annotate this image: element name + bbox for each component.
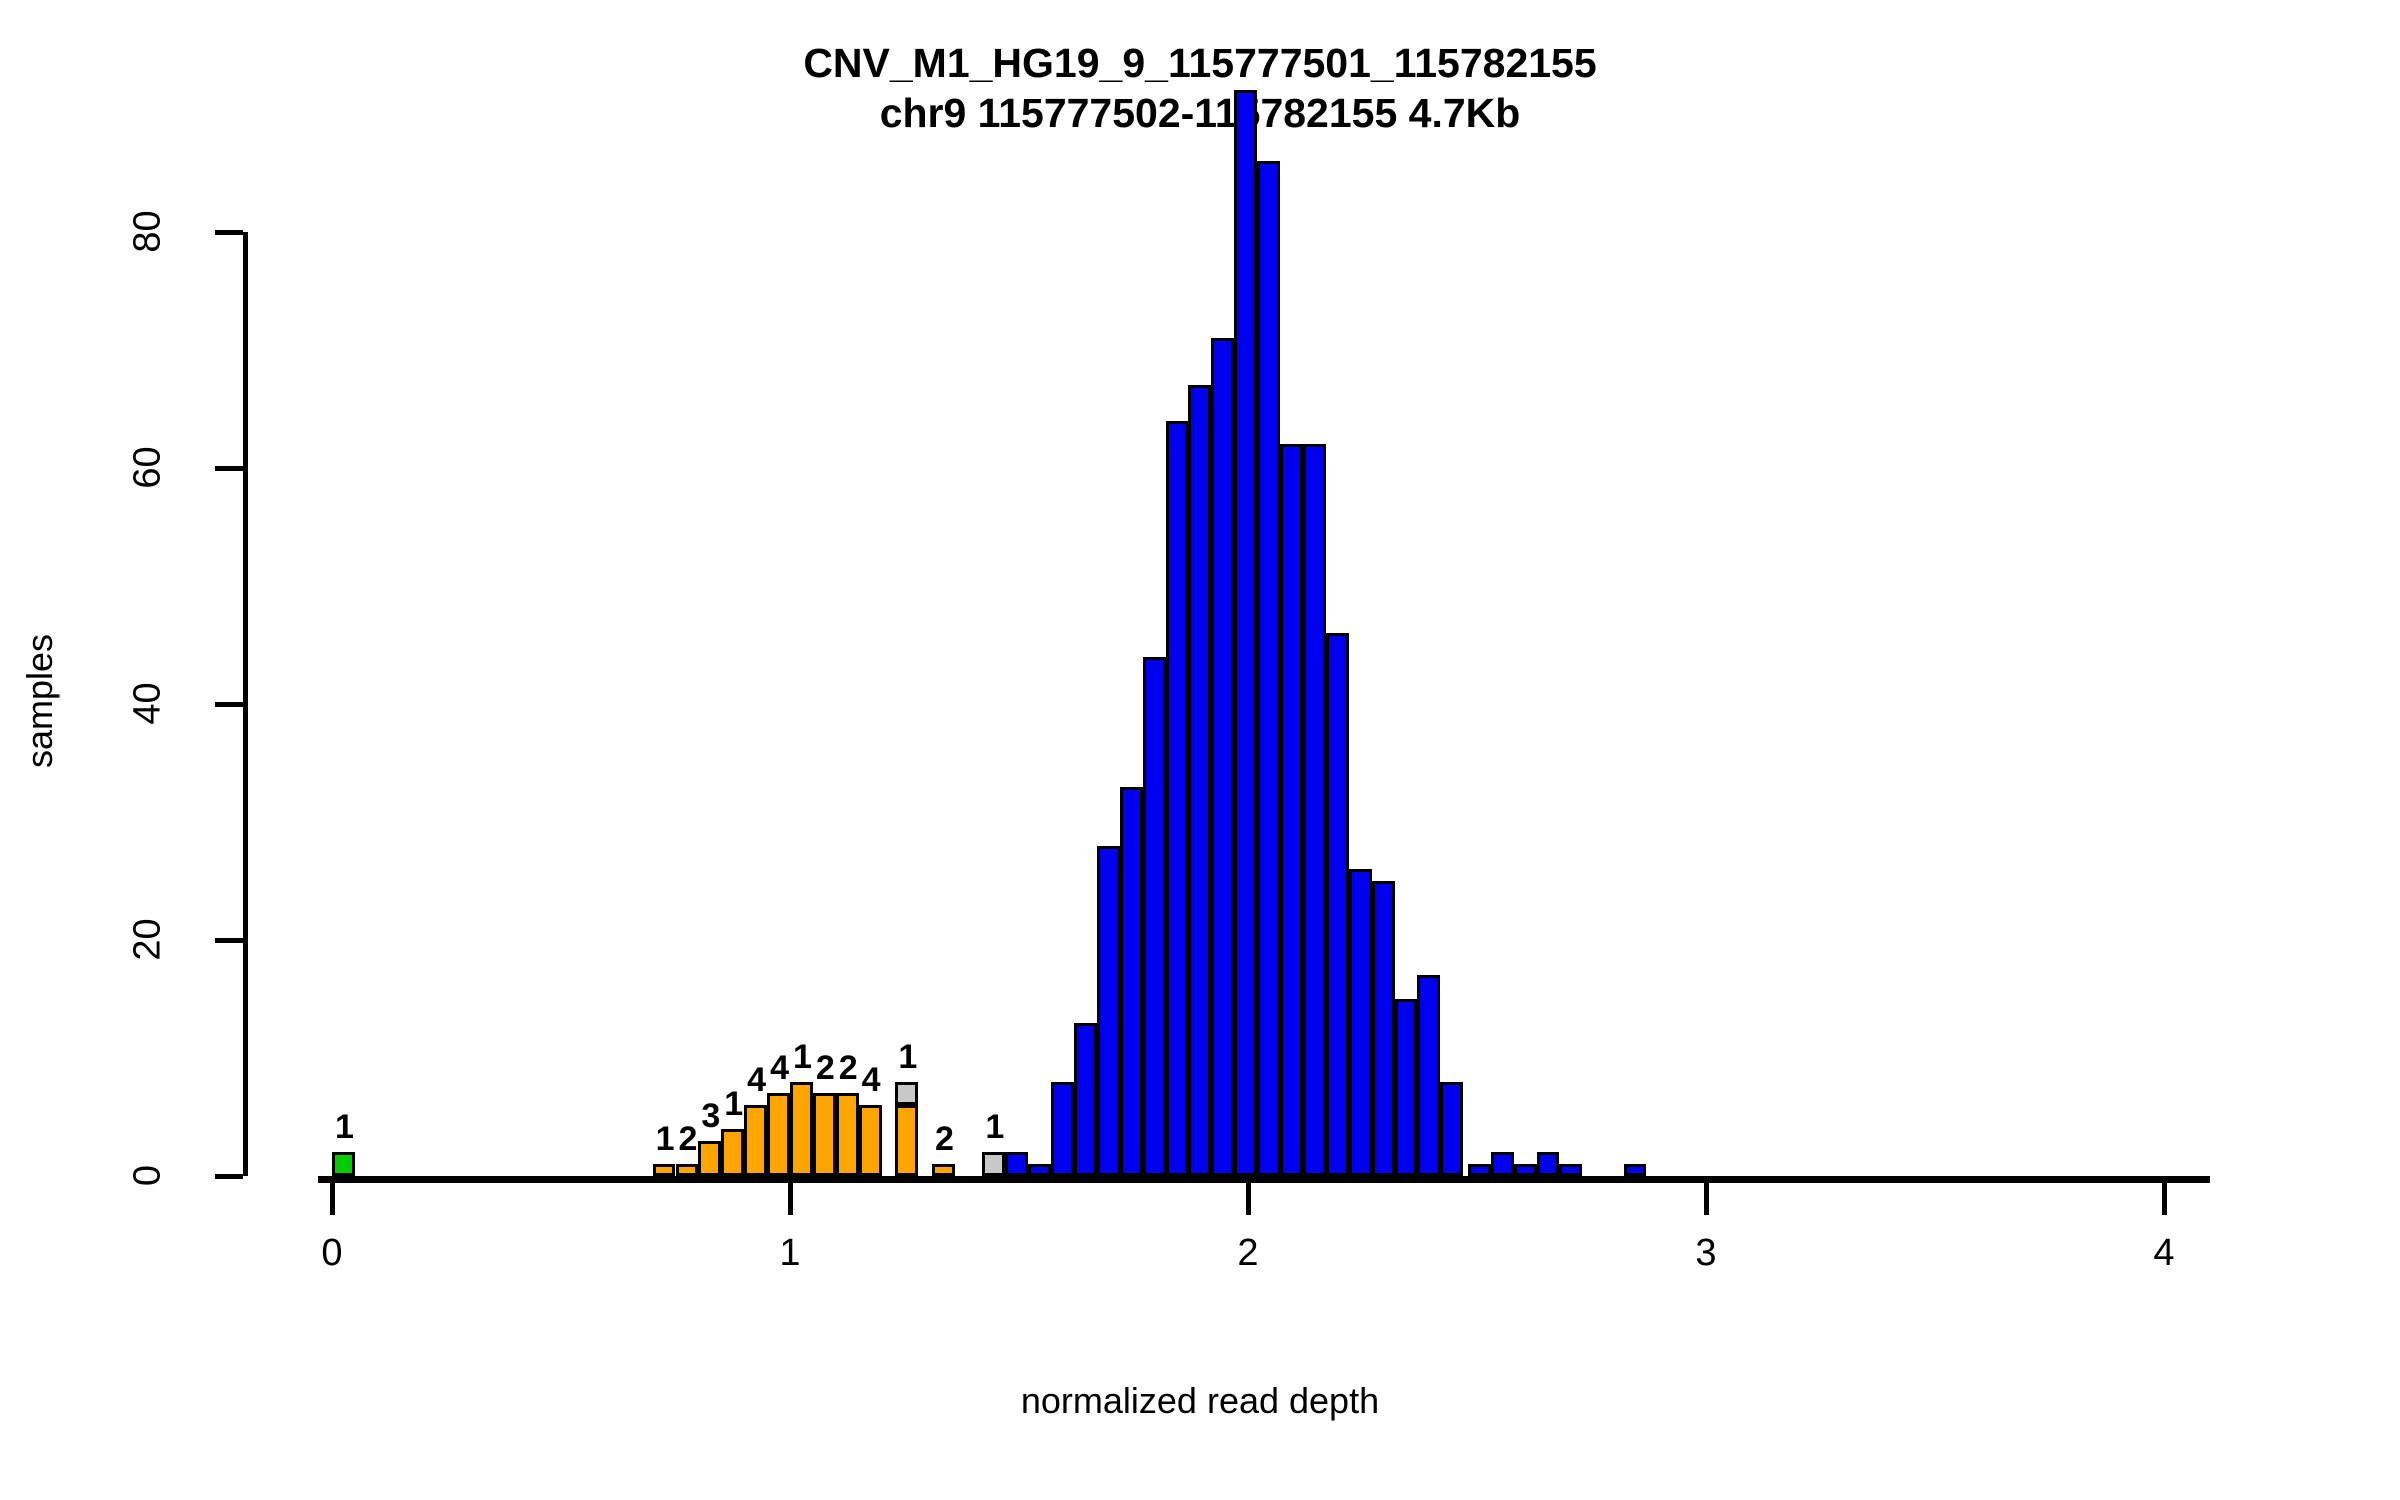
y-tick-label-20: 20 [127,885,170,995]
bar [1468,1164,1491,1176]
bar-count-label: 4 [862,1061,881,1100]
bar-count-label: 2 [816,1049,835,1088]
y-tick-60 [215,466,243,471]
bar-count-label: 2 [935,1120,954,1159]
plot-area: 02040608001234normalized read depthsampl… [0,0,2400,1500]
bar-cap [895,1082,918,1106]
y-tick-label-0: 0 [127,1121,170,1231]
bar-count-label: 1 [724,1085,743,1124]
bar-count-label: 2 [839,1049,858,1088]
bar-count-label: 4 [770,1049,789,1088]
bar [721,1129,744,1176]
x-tick-4 [2162,1183,2167,1215]
x-axis-line [318,1176,2210,1183]
x-tick-label-4: 4 [2104,1232,2224,1275]
bar [1005,1152,1028,1176]
bar-count-label: 2 [678,1120,697,1159]
bar [1074,1023,1097,1176]
bar-count-label: 3 [701,1097,720,1136]
bar [836,1093,859,1176]
bar [1234,90,1257,1176]
bar [744,1105,767,1176]
bar [653,1164,676,1176]
bar [932,1164,955,1176]
bar [676,1164,699,1176]
x-tick-label-3: 3 [1646,1232,1766,1275]
bar-count-label: 1 [793,1038,812,1077]
y-axis-title: samples [19,581,61,821]
bar [1051,1082,1074,1176]
bar [1280,444,1303,1176]
bar-count-label: 4 [747,1061,766,1100]
bar [1097,846,1120,1176]
y-axis-line [243,232,248,1176]
bar [698,1141,721,1176]
chart-canvas: CNV_M1_HG19_9_115777501_115782155 chr9 1… [0,0,2400,1500]
bar [1188,385,1211,1176]
bar-count-label: 1 [656,1120,675,1159]
x-tick-1 [788,1183,793,1215]
bar [332,1152,355,1176]
bar [982,1152,1005,1176]
bar [1395,999,1418,1176]
bar [1120,787,1143,1176]
bar [1440,1082,1463,1176]
y-tick-label-80: 80 [127,177,170,287]
bar [1417,975,1440,1176]
bar [1257,161,1280,1176]
bar [1143,657,1166,1176]
bar [1349,869,1372,1176]
bar [767,1093,790,1176]
bar-count-label: 1 [898,1038,917,1077]
y-tick-20 [215,938,243,943]
bar [1211,338,1234,1176]
y-tick-40 [215,702,243,707]
x-tick-2 [1246,1183,1251,1215]
bar [1537,1152,1560,1176]
x-tick-0 [330,1183,335,1215]
y-tick-0 [215,1174,243,1179]
bar-count-label: 1 [985,1108,1004,1147]
x-tick-3 [1704,1183,1709,1215]
bar [1028,1164,1051,1176]
bar [1624,1164,1647,1176]
y-tick-80 [215,230,243,235]
x-tick-label-2: 2 [1188,1232,1308,1275]
x-tick-label-0: 0 [272,1232,392,1275]
bar [1491,1152,1514,1176]
y-tick-label-60: 60 [127,413,170,523]
bar [1559,1164,1582,1176]
bar [813,1093,836,1176]
bar [1303,444,1326,1176]
bar [1326,633,1349,1176]
bar [859,1105,882,1176]
bar [895,1105,918,1176]
y-tick-label-40: 40 [127,649,170,759]
bar [1514,1164,1537,1176]
bar-count-label: 1 [335,1108,354,1147]
bar [790,1082,813,1176]
bar [1372,881,1395,1176]
x-tick-label-1: 1 [730,1232,850,1275]
bar [1166,421,1189,1176]
x-axis-title: normalized read depth [0,1380,2400,1422]
